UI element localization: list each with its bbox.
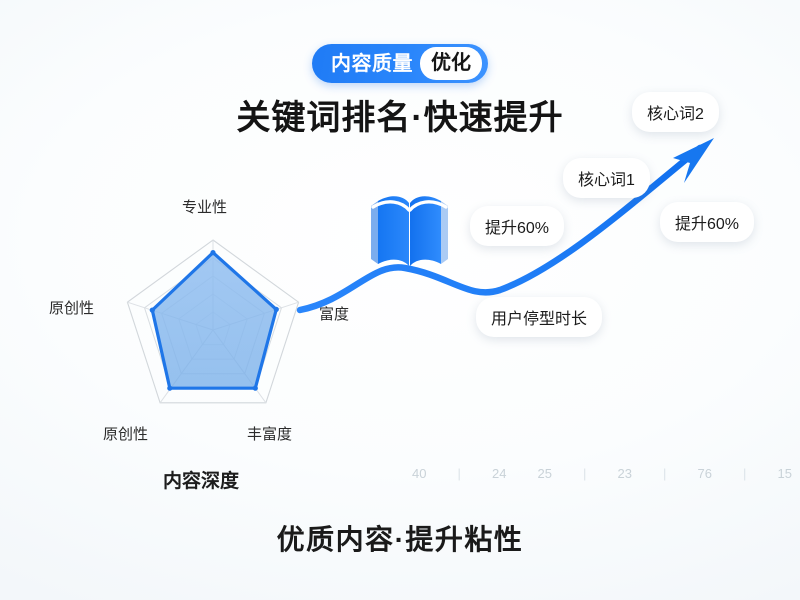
axis-tick-value: 23 [618,466,632,481]
axis-tick-mark: | [663,466,666,481]
radar-chart: 专业性 富度 丰富度 原创性 原创性 [30,185,400,465]
callout-dwell-time[interactable]: 用户停型时长 [476,297,602,337]
axis-tick-value: 15 [777,466,791,481]
axis-tick-value: 76 [697,466,711,481]
radar-label-bottom-left: 原创性 [103,423,148,444]
page-subtitle: 优质内容·提升粘性 [0,518,800,558]
axis-tick-mark: | [743,466,746,481]
radar-chart-svg [30,185,400,465]
callout-uplift-left[interactable]: 提升60% [470,206,564,246]
radar-label-left: 原创性 [49,297,94,318]
callout-uplift-right[interactable]: 提升60% [660,202,754,242]
axis-tick-value: 25 [538,466,552,481]
faint-axis-row: 40|2425|23|76|15 [412,462,792,484]
radar-label-bottom-right: 丰富度 [247,423,292,444]
content-depth-label: 内容深度 [163,466,239,493]
axis-tick-mark: | [458,466,461,481]
arrow-head-icon [673,138,714,183]
poster-canvas: 内容质量 优化 关键词排名·快速提升 [0,0,800,600]
callout-keyword1[interactable]: 核心词1 [563,158,650,198]
callout-keyword2[interactable]: 核心词2 [632,92,719,132]
radar-label-top: 专业性 [182,196,227,217]
axis-tick-value: 40 [412,466,426,481]
radar-label-right: 富度 [319,303,349,324]
axis-tick-value: 24 [492,466,506,481]
axis-tick-mark: | [583,466,586,481]
